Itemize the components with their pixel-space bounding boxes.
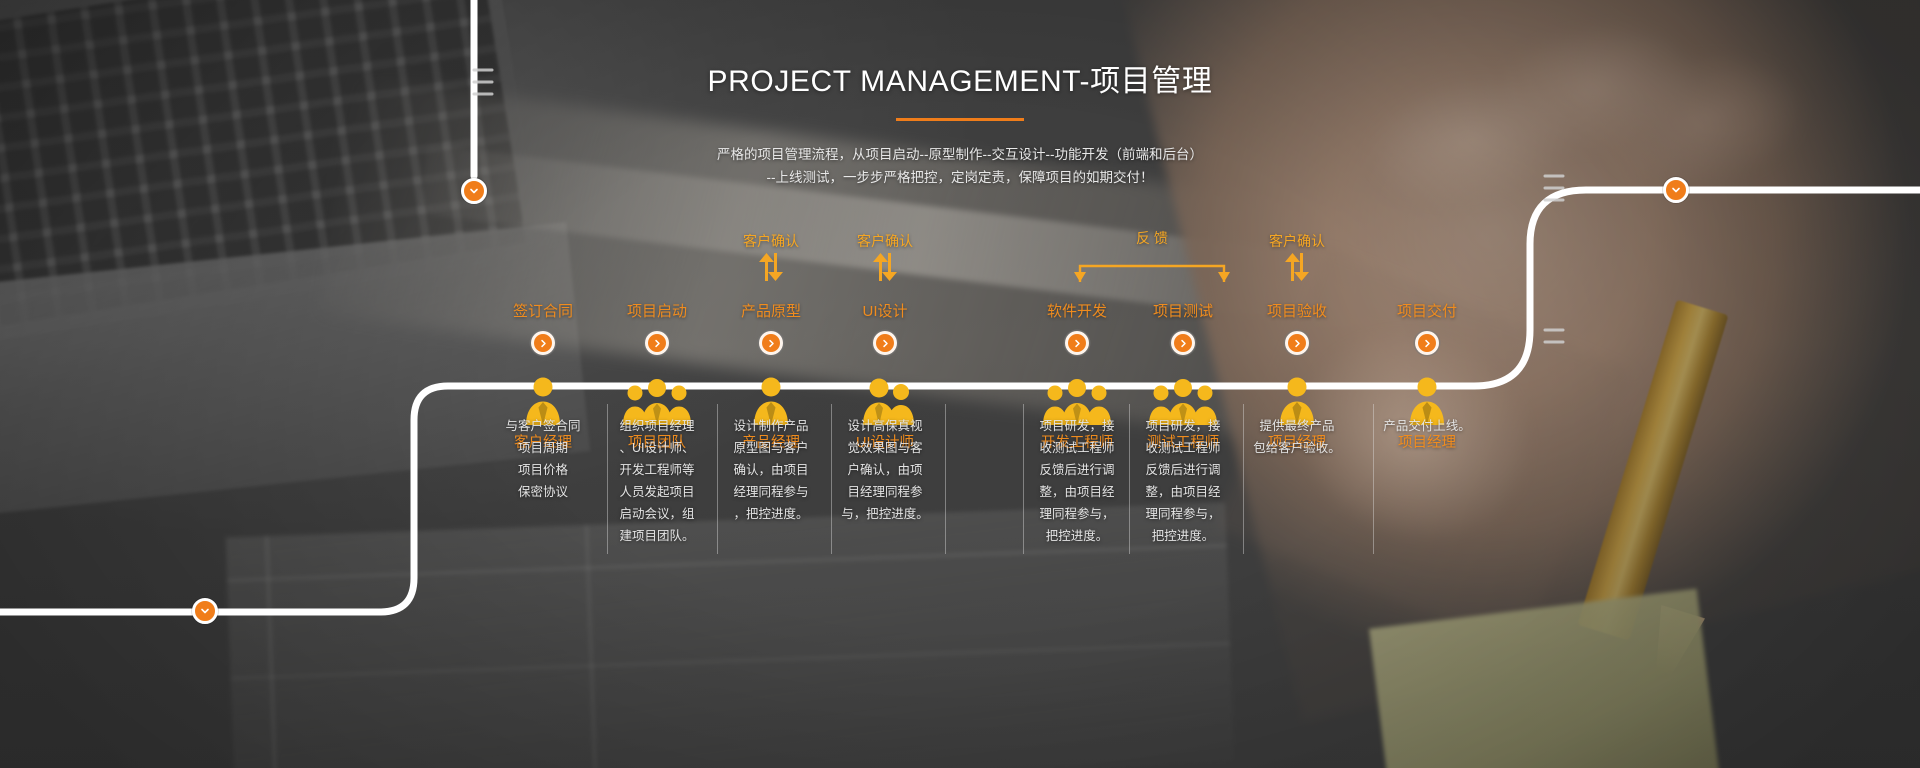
- step-description-5: 项目研发，接 收测试工程师 反馈后进行调 整，由项目经 理同程参与， 把控进度。: [1025, 415, 1129, 547]
- chevron-right-icon: [767, 339, 776, 348]
- content-layer: PROJECT MANAGEMENT-项目管理 严格的项目管理流程，从项目启动-…: [0, 0, 1920, 768]
- customer-confirm-block-4: 客户确认: [810, 232, 960, 290]
- step-description-8: 产品交付上线。: [1375, 415, 1479, 437]
- chevron-right-icon: [1073, 339, 1082, 348]
- step-node-7[interactable]: [1285, 331, 1309, 355]
- desc-line: 设计高保真视: [833, 415, 937, 437]
- desc-line: 把控进度。: [1131, 525, 1235, 547]
- desc-line: 项目周期: [491, 437, 595, 459]
- desc-line: 觉效果图与客: [833, 437, 937, 459]
- chevron-right-icon: [1293, 339, 1302, 348]
- chevron-right-icon: [653, 339, 662, 348]
- step-description-6: 项目研发，接 收测试工程师 反馈后进行调 整，由项目经 理同程参与， 把控进度。: [1131, 415, 1235, 547]
- desc-line: 建项目团队。: [605, 525, 709, 547]
- desc-line: 设计制作产品: [719, 415, 823, 437]
- step-description-4: 设计高保真视 觉效果图与客 户确认，由项 目经理同程参 与，把控进度。: [833, 415, 937, 525]
- desc-line: 保密协议: [491, 481, 595, 503]
- column-separator-1: [607, 404, 608, 554]
- desc-line: 原型图与客户: [719, 437, 823, 459]
- desc-line: 目经理同程参: [833, 481, 937, 503]
- desc-line: 确认，由项目: [719, 459, 823, 481]
- desc-line: 把控进度。: [1025, 525, 1129, 547]
- desc-line: 反馈后进行调: [1025, 459, 1129, 481]
- desc-line: 经理同程参与: [719, 481, 823, 503]
- column-separator-7: [1243, 404, 1244, 554]
- desc-line: 理同程参与，: [1025, 503, 1129, 525]
- desc-line: 反馈后进行调: [1131, 459, 1235, 481]
- step-node-8[interactable]: [1415, 331, 1439, 355]
- desc-line: 提供最终产品: [1245, 415, 1349, 437]
- timeline: 签订合同 客户经理: [0, 0, 1920, 768]
- step-description-2: 组织项目经理 、UI设计师、 开发工程师等 人员发起项目 启动会议，组 建项目团…: [605, 415, 709, 547]
- desc-line: 户确认，由项: [833, 459, 937, 481]
- step-node-4[interactable]: [873, 331, 897, 355]
- up-down-arrows-icon-4: [810, 252, 960, 286]
- desc-line: 整，由项目经: [1131, 481, 1235, 503]
- step-title-8: 项目交付: [1352, 300, 1502, 321]
- desc-line: 开发工程师等: [605, 459, 709, 481]
- desc-line: ，把控进度。: [719, 503, 823, 525]
- column-separator-4: [945, 404, 946, 554]
- step-description-1: 与客户签合同 项目周期 项目价格 保密协议: [491, 415, 595, 503]
- desc-line: 人员发起项目: [605, 481, 709, 503]
- desc-line: 项目研发，接: [1131, 415, 1235, 437]
- step-title-7: 项目验收: [1222, 300, 1372, 321]
- desc-line: 启动会议，组: [605, 503, 709, 525]
- column-separator-2: [717, 404, 718, 554]
- chevron-right-icon: [539, 339, 548, 348]
- desc-line: 项目价格: [491, 459, 595, 481]
- desc-line: 与，把控进度。: [833, 503, 937, 525]
- desc-line: 收测试工程师: [1131, 437, 1235, 459]
- desc-line: 项目研发，接: [1025, 415, 1129, 437]
- customer-confirm-label-7: 客户确认: [1269, 233, 1325, 249]
- step-node-3[interactable]: [759, 331, 783, 355]
- project-management-timeline-page: PROJECT MANAGEMENT-项目管理 严格的项目管理流程，从项目启动-…: [0, 0, 1920, 768]
- step-node-1[interactable]: [531, 331, 555, 355]
- chevron-right-icon: [881, 339, 890, 348]
- column-separator-3: [831, 404, 832, 554]
- step-description-7: 提供最终产品 包给客户验收。: [1245, 415, 1349, 459]
- step-node-2[interactable]: [645, 331, 669, 355]
- customer-confirm-label-4: 客户确认: [857, 233, 913, 249]
- step-node-6[interactable]: [1171, 331, 1195, 355]
- step-description-3: 设计制作产品 原型图与客户 确认，由项目 经理同程参与 ，把控进度。: [719, 415, 823, 525]
- customer-confirm-block-7: 客户确认: [1222, 232, 1372, 290]
- up-down-arrows-icon-7: [1222, 252, 1372, 286]
- desc-line: 整，由项目经: [1025, 481, 1129, 503]
- column-separator-8: [1373, 404, 1374, 554]
- column-separator-5: [1023, 404, 1024, 554]
- desc-line: 、UI设计师、: [605, 437, 709, 459]
- step-node-5[interactable]: [1065, 331, 1089, 355]
- column-separator-6: [1129, 404, 1130, 554]
- desc-line: 包给客户验收。: [1245, 437, 1349, 459]
- step-title-4: UI设计: [810, 300, 960, 321]
- chevron-right-icon: [1179, 339, 1188, 348]
- desc-line: 理同程参与，: [1131, 503, 1235, 525]
- chevron-right-icon: [1423, 339, 1432, 348]
- desc-line: 组织项目经理: [605, 415, 709, 437]
- customer-confirm-label-3: 客户确认: [743, 233, 799, 249]
- desc-line: 产品交付上线。: [1375, 415, 1479, 437]
- desc-line: 与客户签合同: [491, 415, 595, 437]
- desc-line: 收测试工程师: [1025, 437, 1129, 459]
